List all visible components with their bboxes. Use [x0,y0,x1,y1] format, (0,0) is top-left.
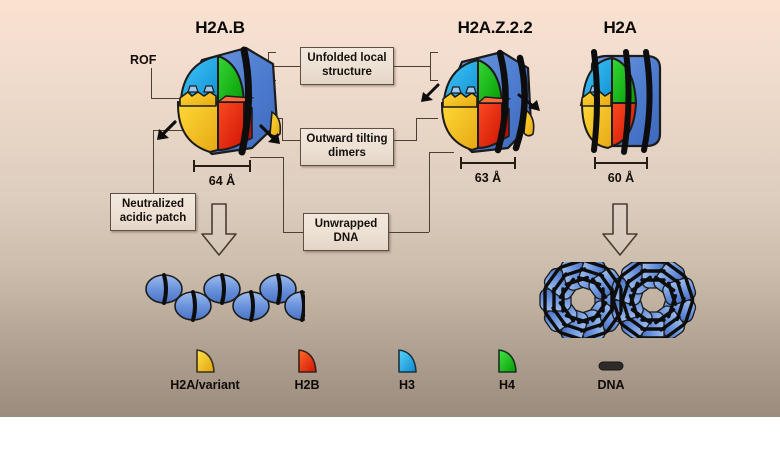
conn-tilting-right-stem [394,140,416,141]
column-title-h2a: H2A [575,18,665,38]
legend-swatch-dna [556,344,666,374]
legend-label-h4: H4 [452,378,562,392]
column-title-h2az22: H2A.Z.2.2 [430,18,560,38]
conn-unwrapped-left-stem [283,232,303,233]
chromatin-fiber-open [145,268,305,330]
conn-unwrapped-right-riser [429,152,430,232]
conn-tilting-right-riser [416,118,417,141]
rof-leader-vertical [151,68,152,98]
callout-unwrapped-line1: Unwrapped [315,218,378,230]
scalebar-h2a: 60 Å [594,157,648,187]
legend-label-h3: H3 [352,378,462,392]
legend-swatch-h4 [452,344,562,374]
conn-unwrapped-left-top [250,157,283,158]
callout-tilting-line1: Outward tilting [306,133,387,145]
callout-outward-tilting-dimers[interactable]: Outward tilting dimers [300,128,394,166]
callout-neutralized-acidic-patch[interactable]: Neutralized acidic patch [110,193,196,231]
legend-item-h4: H4 [452,344,562,392]
callout-acidpatch-line1: Neutralized [122,198,184,210]
legend-item-h3: H3 [352,344,462,392]
callout-unfolded-structure[interactable]: Unfolded local structure [300,47,394,85]
legend-item-h2a-variant: H2A/variant [150,344,260,392]
legend-item-dna: DNA [556,344,666,392]
nucleosome-h2a [568,48,678,158]
conn-unwrapped-left-riser [283,157,284,232]
down-arrow-left [198,202,240,263]
legend-label-h2b: H2B [252,378,362,392]
arrow-tilt-h2ab-right [258,122,284,153]
bottom-white-margin [0,417,780,470]
callout-unwrapped-line2: DNA [334,232,359,244]
conn-unfolded-right-stem [394,66,430,67]
legend-swatch-h3 [352,344,462,374]
scalebar-h2ab-value: 64 Å [193,174,251,188]
scalebar-h2az22: 63 Å [460,157,516,187]
scalebar-h2ab: 64 Å [193,160,251,190]
down-arrow-right [599,202,641,263]
column-title-h2ab: H2A.B [160,18,280,38]
arrow-tilt-h2az22-left [418,82,442,111]
legend-swatch-h2a-variant [150,344,260,374]
arrow-tilt-h2ab-left [153,118,179,149]
legend-swatch-h2b [252,344,362,374]
legend-label-dna: DNA [556,378,666,392]
legend-label-h2a-variant: H2A/variant [150,378,260,392]
legend: H2A/variant H2B H3 [0,344,780,406]
callout-unwrapped-dna[interactable]: Unwrapped DNA [303,213,389,251]
callout-unfolded-line2: structure [322,66,372,78]
callout-acidpatch-line2: acidic patch [120,212,186,224]
callout-tilting-line2: dimers [328,147,366,159]
scalebar-h2az22-value: 63 Å [460,171,516,185]
callout-unfolded-line1: Unfolded local [307,52,386,64]
rof-label: ROF [130,53,156,67]
conn-unwrapped-right-stem [389,232,429,233]
arrow-tilt-h2az22-right [517,90,543,119]
diagram-canvas: H2A.B H2A.Z.2.2 H2A ROF Unfolded local s… [0,0,780,417]
chromatin-fiber-compact [527,262,707,338]
legend-item-h2b: H2B [252,344,362,392]
scalebar-h2a-value: 60 Å [594,171,648,185]
